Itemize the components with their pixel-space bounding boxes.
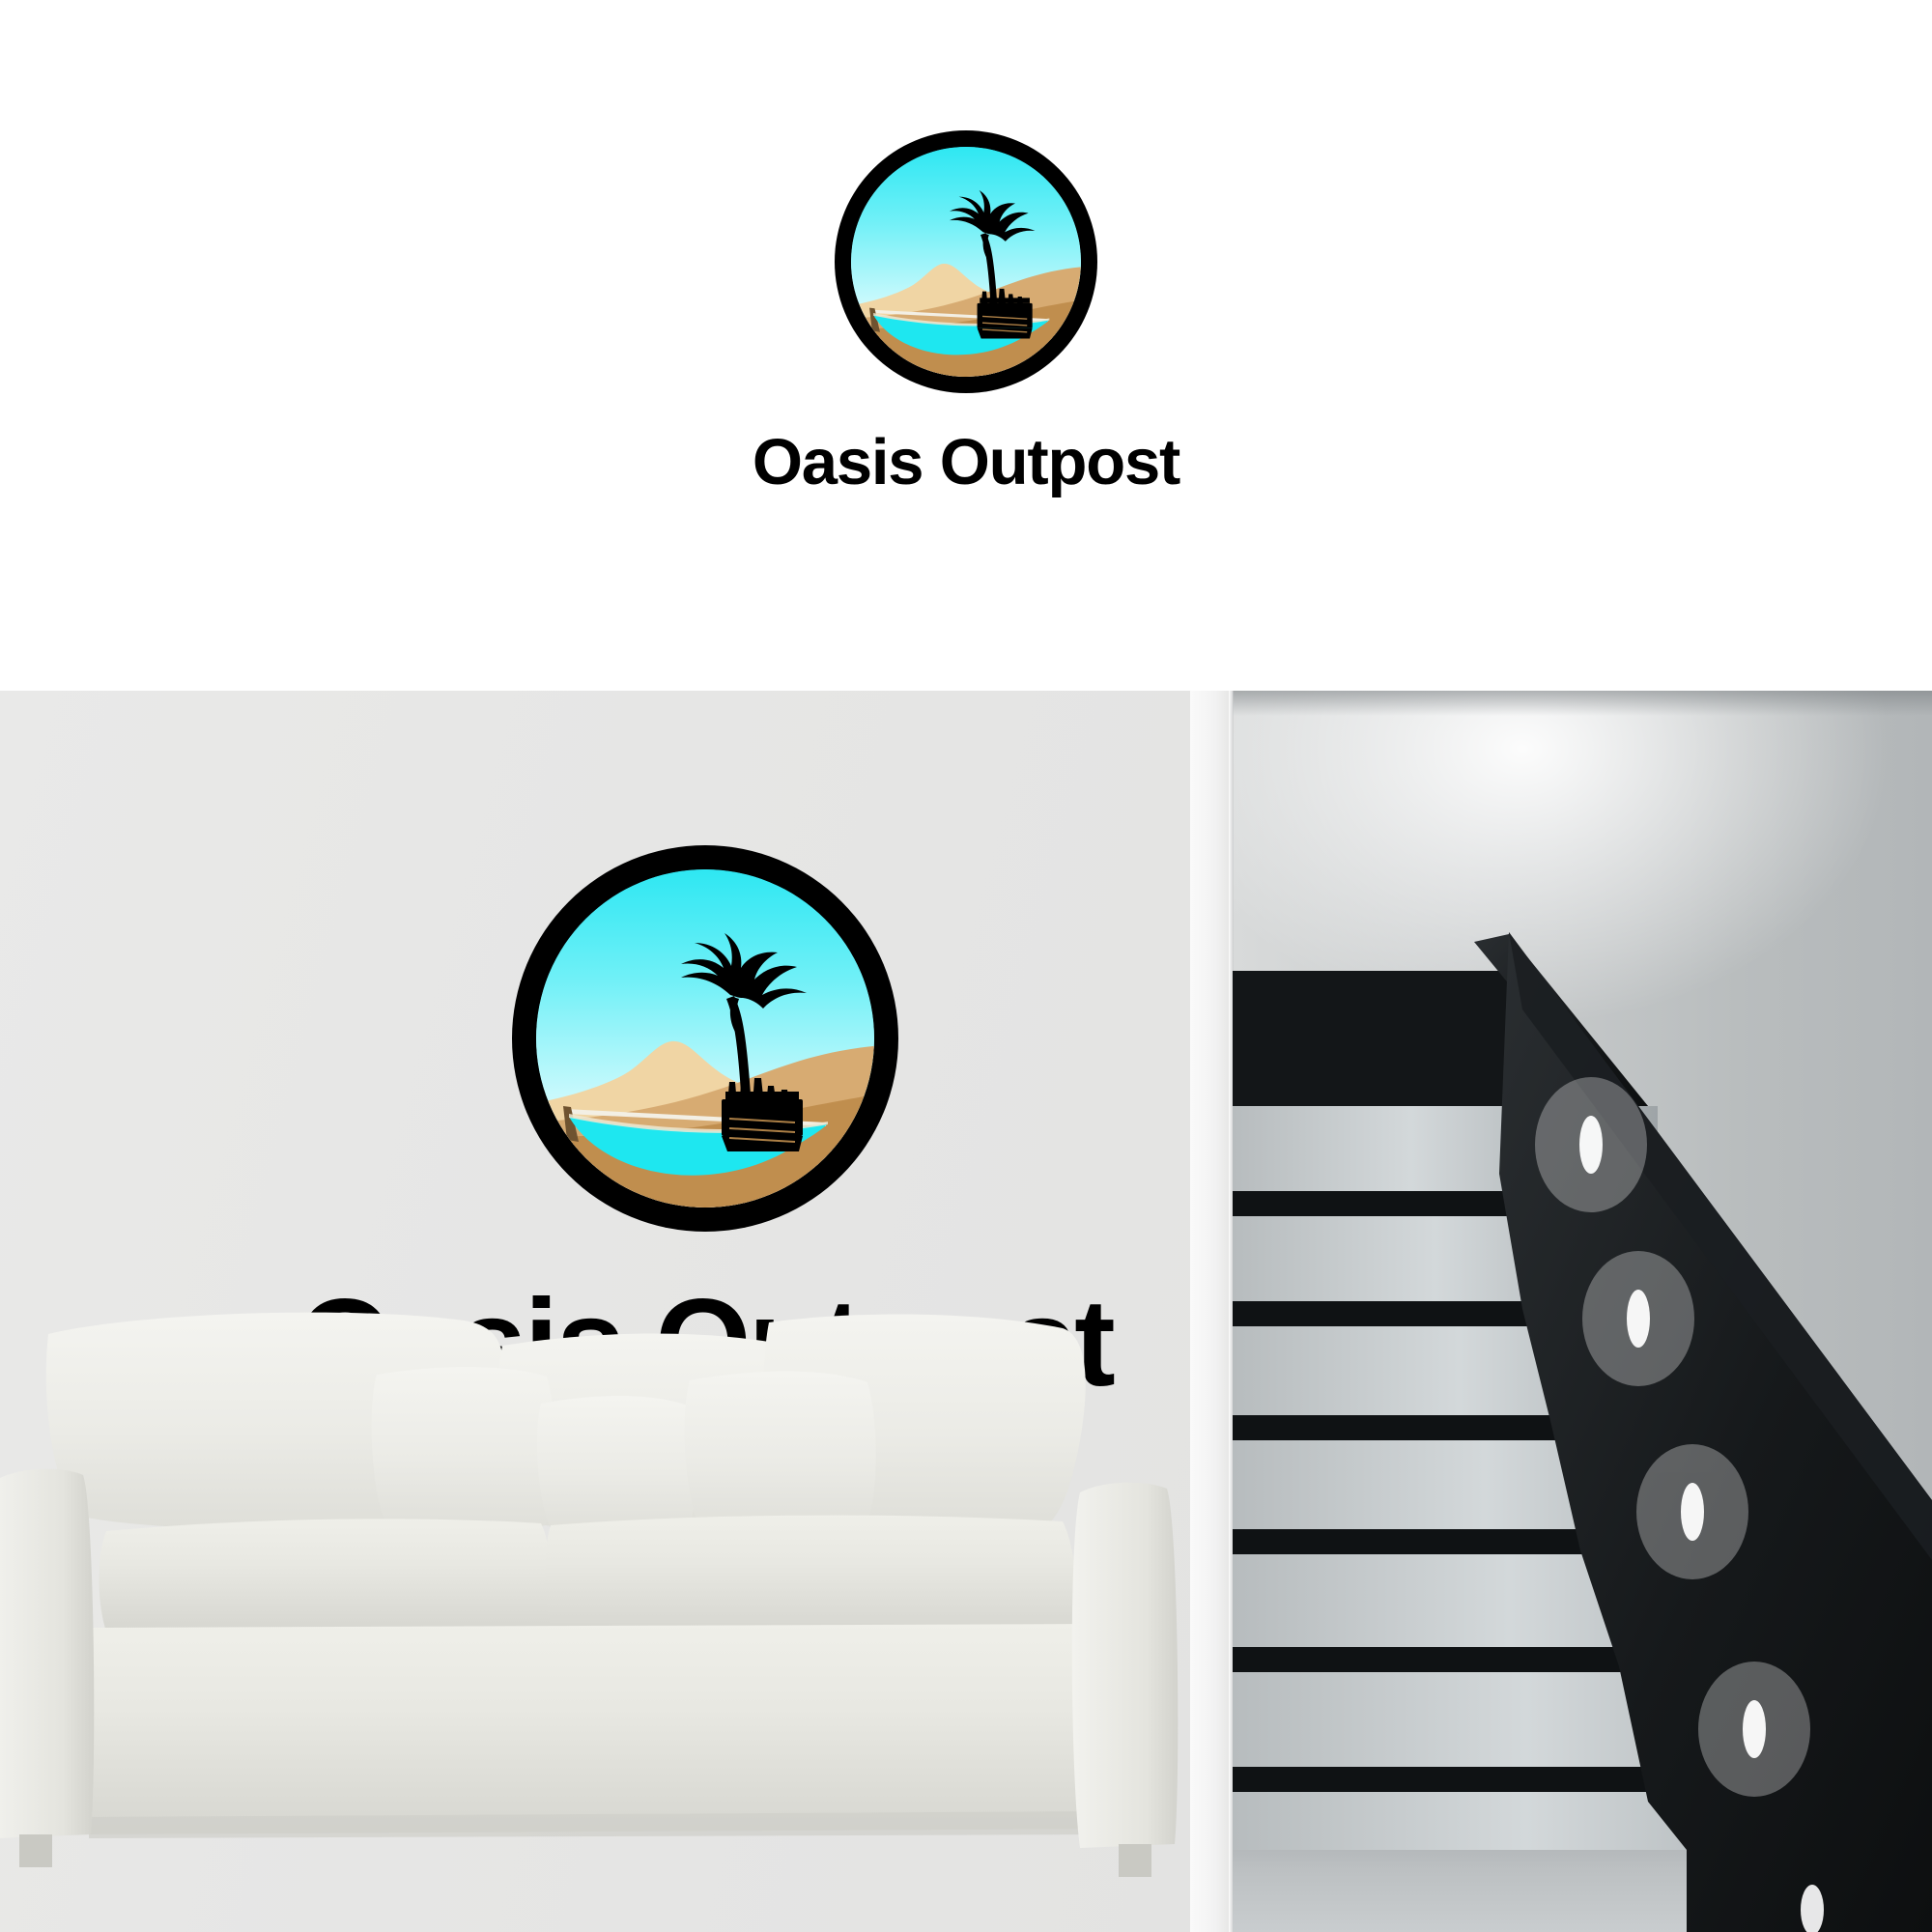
- logo-presentation-panel: Oasis Outpost: [0, 0, 1932, 691]
- brand-mark-small: [835, 130, 1097, 393]
- sofa-base: [80, 1624, 1117, 1834]
- brand-mark-large: [512, 845, 898, 1232]
- brand-mark-small-scene: [851, 147, 1081, 377]
- brand-mark-large-scene: [536, 869, 874, 1207]
- cushion: [545, 1516, 1076, 1634]
- mockup-canvas: Oasis Outpost: [0, 0, 1932, 1932]
- seat-cushions: [99, 1516, 1077, 1634]
- cushion: [372, 1367, 555, 1535]
- cushion: [99, 1519, 553, 1632]
- wordmark-primary: Oasis Outpost: [618, 430, 1314, 495]
- sofa-arm-right: [1072, 1483, 1179, 1848]
- oasis-scene-small: [851, 147, 1081, 377]
- cushion: [685, 1371, 876, 1536]
- logo-lockup-primary: Oasis Outpost: [618, 130, 1314, 495]
- sofa-arm-left: [0, 1469, 94, 1838]
- interior-mockup-panel: Oasis Outpost: [0, 691, 1932, 1932]
- sofa: [0, 1288, 1236, 1932]
- staircase: [1233, 691, 1932, 1932]
- sofa-feet: [19, 1834, 1151, 1877]
- cushion: [537, 1396, 696, 1537]
- oasis-scene-large: [536, 869, 874, 1207]
